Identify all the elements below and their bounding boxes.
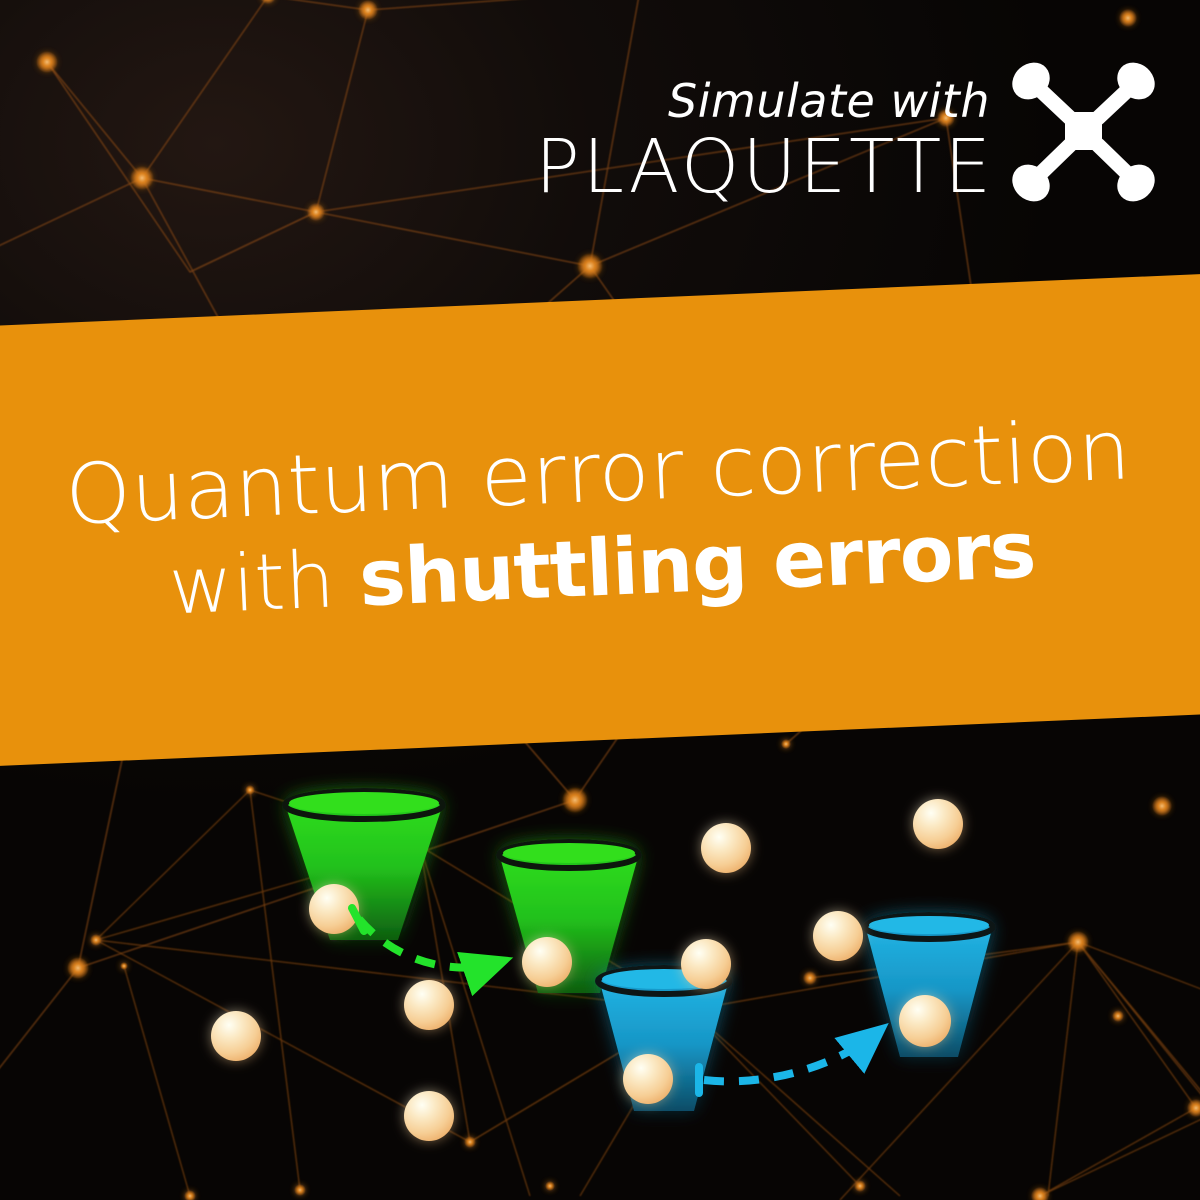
qubit-in-blue-target (899, 995, 951, 1047)
title-line-2-thin: with (167, 535, 361, 633)
qubit-free-5 (701, 823, 751, 873)
qubit-free-7 (813, 911, 863, 961)
logo-tagline: Simulate with (668, 78, 990, 124)
title-banner: Quantum error correction with shuttling … (0, 272, 1200, 768)
qubit-free-2 (404, 980, 454, 1030)
qubit-free-1 (211, 1011, 261, 1061)
green-trap-source (285, 791, 443, 941)
qubit-in-green-target (522, 937, 572, 987)
qubit-free-4 (681, 939, 731, 989)
logo-wordmark: Simulate with PLAQUETTE (535, 78, 994, 204)
blue-shuttle-arrow (699, 1032, 878, 1093)
plaquette-x-mark-icon (1008, 62, 1158, 202)
shuttling-trap-illustration (0, 735, 1200, 1200)
qubit-free-6 (913, 799, 963, 849)
qubit-free-3 (404, 1091, 454, 1141)
brand-logo: Simulate with PLAQUETTE (535, 62, 1158, 204)
logo-product-name: PLAQUETTE (535, 130, 994, 204)
qubit-in-blue-source (623, 1054, 673, 1104)
poster-canvas: Simulate with PLAQUETTE (0, 0, 1200, 1200)
